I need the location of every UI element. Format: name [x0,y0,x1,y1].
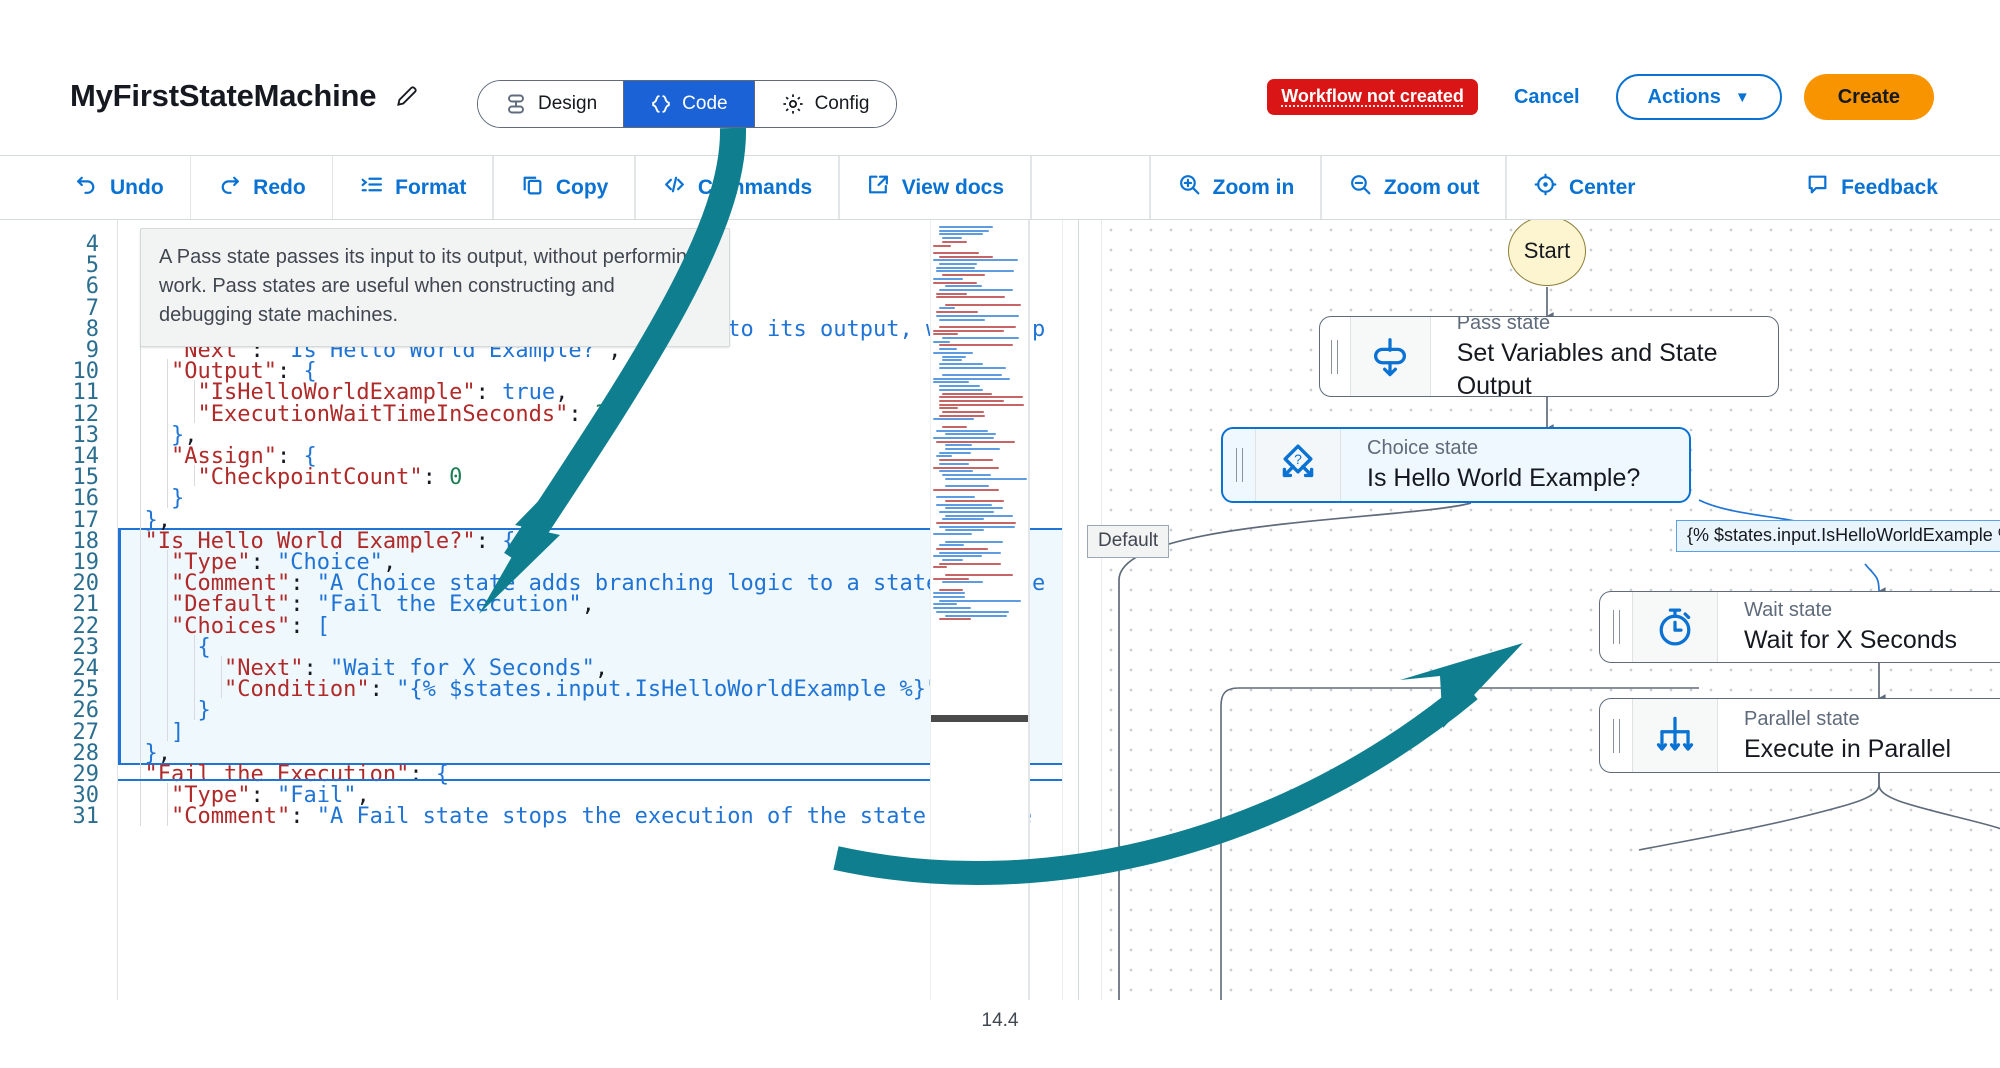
node-kind-label: Wait state [1744,597,1957,624]
minimap-line [942,426,967,428]
line-number: 4 [19,234,99,255]
cancel-button[interactable]: Cancel [1500,86,1594,109]
minimap-line [945,515,1013,517]
header-actions: Workflow not created Cancel Actions ▼ Cr… [1267,74,1934,120]
line-number: 21 [19,594,99,615]
minimap-line [936,315,1019,317]
minimap-line [942,241,967,243]
node-choice-state[interactable]: ? Choice state Is Hello World Example? [1221,427,1691,503]
toolbar-right-spacer [1661,156,1779,219]
minimap-line [945,541,1003,543]
minimap-line [933,341,950,343]
editor-scrollbar[interactable] [1062,220,1075,1000]
node-name-label: Wait for X Seconds [1744,624,1957,657]
minimap-line [939,385,980,387]
format-label: Format [395,176,466,200]
minimap-line [939,415,985,417]
undo-label: Undo [110,176,164,200]
minimap-line [933,352,973,354]
minimap-line [933,533,972,535]
page-title: MyFirstStateMachine [70,78,376,114]
minimap-line [945,285,982,287]
node-pass-state[interactable]: Pass state Set Variables and State Outpu… [1319,316,1779,397]
feedback-button[interactable]: Feedback [1779,156,2000,219]
minimap-line [939,470,973,472]
copy-label: Copy [556,176,609,200]
minimap-line [939,389,983,391]
title-group: MyFirstStateMachine [70,78,420,114]
external-link-icon [866,172,891,203]
line-number: 20 [19,573,99,594]
node-wait-state[interactable]: Wait state Wait for X Seconds [1599,591,2000,663]
minimap-line [939,348,957,350]
line-number: 14 [19,446,99,467]
tab-code-label: Code [682,93,727,115]
minimap-line [936,455,952,457]
line-number: 31 [19,806,99,827]
minimap-line [942,393,992,395]
minimap-line [936,296,1005,298]
code-minimap[interactable] [930,220,1028,1000]
minimap-line [939,452,971,454]
minimap-line [933,603,957,605]
minimap-line [942,474,991,476]
line-number: 12 [19,404,99,425]
parallel-state-icon [1632,699,1718,772]
feedback-icon [1805,172,1830,203]
status-badge: Workflow not created [1267,79,1478,115]
tab-config-label: Config [815,93,870,115]
minimap-line [933,578,969,580]
line-number: 30 [19,785,99,806]
editor-minimap-divider [1028,220,1030,1000]
node-name-label: Set Variables and State Output [1457,337,1778,397]
line-number: 19 [19,552,99,573]
minimap-line [939,400,1004,402]
view-docs-label: View docs [902,176,1004,200]
minimap-line [942,359,962,361]
minimap-line [936,496,975,498]
workflow-graph[interactable]: Start Pass state Set Variables and State… [1078,220,2000,1000]
svg-text:?: ? [1294,451,1302,467]
minimap-line [936,293,967,295]
node-drag-handle[interactable] [1223,429,1255,501]
minimap-line [933,592,965,594]
minimap-line [945,529,984,531]
line-number-gutter: 4567891011121314151617181920212223242526… [0,220,118,1000]
minimap-line [945,433,996,435]
node-drag-handle[interactable] [1320,317,1350,396]
minimap-line [939,407,958,409]
minimap-line [939,289,1013,291]
minimap-line [933,467,999,469]
minimap-line [936,504,992,506]
commands-button[interactable]: Commands [636,156,838,219]
create-button[interactable]: Create [1804,74,1934,120]
minimap-line [939,263,977,265]
design-icon [504,92,528,116]
line-number: 6 [19,276,99,297]
node-drag-handle[interactable] [1600,592,1632,662]
line-number: 7 [19,298,99,319]
minimap-line [936,522,1016,524]
node-labels: Wait state Wait for X Seconds [1718,592,1957,662]
redo-button[interactable]: Redo [191,156,332,219]
copy-icon [520,172,545,203]
undo-icon [74,172,99,203]
minimap-line [939,552,1001,554]
minimap-line [945,574,1013,576]
line-number: 17 [19,510,99,531]
choice-state-icon: ? [1255,429,1341,501]
edge-label-default[interactable]: Default [1087,525,1169,558]
braces-icon [650,93,672,115]
zoom-in-button[interactable]: Zoom in [1151,156,1321,219]
pass-state-icon [1350,317,1431,396]
graph-zoom-level: 14.4 [982,1010,1019,1032]
line-number: 26 [19,700,99,721]
minimap-line [939,307,955,309]
redo-label: Redo [253,176,306,200]
minimap-line [939,326,1016,328]
feedback-label: Feedback [1841,176,1938,200]
minimap-line [945,485,989,487]
app-header: MyFirstStateMachine Design [0,0,2000,155]
pass-state-tooltip: A Pass state passes its input to its out… [140,228,730,347]
minimap-line [936,441,1015,443]
line-number: 5 [19,255,99,276]
minimap-line [933,252,979,254]
editor-toolbar: Undo Redo Format Copy [0,155,2000,220]
node-labels: Choice state Is Hello World Example? [1341,429,1640,501]
zoom-out-icon [1348,172,1373,203]
tab-code[interactable]: Code [624,81,754,127]
minimap-line [939,589,963,591]
view-docs-button[interactable]: View docs [840,156,1030,219]
minimap-scroll-thumb[interactable] [931,715,1028,722]
zoom-out-button[interactable]: Zoom out [1322,156,1506,219]
minimap-line [939,563,1001,565]
line-number: 16 [19,488,99,509]
minimap-line [933,333,958,335]
minimap-line [939,233,983,235]
node-drag-handle[interactable] [1600,699,1632,772]
center-button[interactable]: Center [1507,156,1662,219]
minimap-line [933,489,999,491]
toolbar-mid-spacer [1032,156,1150,219]
minimap-line [936,430,988,432]
center-target-icon [1533,172,1558,203]
minimap-line [939,459,993,461]
zoom-in-icon [1177,172,1202,203]
minimap-line [939,319,985,321]
line-number: 25 [19,679,99,700]
line-number: 9 [19,340,99,361]
node-parallel-state[interactable]: Parallel state Execute in Parallel [1599,698,2000,773]
minimap-line [939,600,1021,602]
tab-config[interactable]: Config [755,81,896,127]
commands-label: Commands [698,176,812,200]
minimap-line [933,330,1004,332]
minimap-line [933,282,977,284]
line-number: 15 [19,467,99,488]
wait-state-icon [1632,592,1718,662]
line-number: 28 [19,743,99,764]
line-number: 23 [19,637,99,658]
minimap-line [933,437,994,439]
minimap-line [945,615,1007,617]
minimap-line [939,463,969,465]
minimap-line [936,611,1009,613]
copy-button[interactable]: Copy [494,156,635,219]
minimap-line [945,448,1000,450]
minimap-line [942,337,1019,339]
minimap-line [936,548,988,550]
redo-icon [217,172,242,203]
minimap-line [933,596,965,598]
minimap-line [933,245,951,247]
minimap-line [933,418,974,420]
minimap-line [939,344,1013,346]
minimap-line [939,618,971,620]
line-number: 24 [19,658,99,679]
code-brackets-icon [662,172,687,203]
minimap-line [942,356,966,358]
line-number: 18 [19,531,99,552]
actions-label: Actions [1648,86,1721,109]
format-button[interactable]: Format [333,156,492,219]
minimap-line [933,566,947,568]
node-kind-label: Parallel state [1744,706,1951,733]
minimap-line [942,518,984,520]
minimap-line [933,259,1018,261]
minimap-line [936,270,1014,272]
gear-icon [781,92,805,116]
line-number: 29 [19,764,99,785]
line-number: 22 [19,616,99,637]
minimap-line [945,478,1027,480]
pencil-icon[interactable] [394,83,420,109]
minimap-line [939,526,1015,528]
tab-design[interactable]: Design [478,81,624,127]
minimap-line [942,374,1002,376]
undo-button[interactable]: Undo [48,156,190,219]
actions-button[interactable]: Actions ▼ [1616,74,1782,120]
minimap-line [942,559,963,561]
tab-design-label: Design [538,93,597,115]
line-number: 10 [19,361,99,382]
edge-label-condition[interactable]: {% $states.input.IsHelloWorldExample %..… [1676,520,2000,552]
minimap-line [942,237,962,239]
minimap-line [939,230,989,232]
minimap-line [933,378,1010,380]
minimap-line [933,555,982,557]
minimap-line [939,404,1024,406]
minimap-line [942,411,984,413]
minimap-line [942,581,983,583]
minimap-line [945,444,972,446]
node-name-label: Execute in Parallel [1744,733,1951,766]
minimap-line [933,278,963,280]
minimap-line [945,304,1021,306]
node-kind-label: Choice state [1367,435,1640,462]
format-icon [359,172,384,203]
zoom-in-label: Zoom in [1213,176,1295,200]
minimap-line [945,507,1003,509]
minimap-line [939,367,1006,369]
minimap-line [942,274,985,276]
minimap-line [945,500,1004,502]
line-number: 13 [19,425,99,446]
node-name-label: Is Hello World Example? [1367,462,1640,495]
minimap-line [939,396,1023,398]
line-number: 8 [19,319,99,340]
minimap-line [939,226,993,228]
minimap-line [939,363,983,365]
minimap-line [933,381,969,383]
chevron-down-icon: ▼ [1735,90,1750,105]
view-mode-tabs[interactable]: Design Code Config [477,80,897,128]
minimap-line [939,544,964,546]
minimap-line [933,607,971,609]
center-label: Center [1569,176,1636,200]
minimap-line [936,267,975,269]
minimap-line [936,311,978,313]
toolbar-left-spacer [0,156,48,219]
node-labels: Pass state Set Variables and State Outpu… [1431,317,1778,396]
minimap-line [939,256,993,258]
node-kind-label: Pass state [1457,316,1778,337]
zoom-out-label: Zoom out [1384,176,1480,200]
line-number: 11 [19,382,99,403]
line-number: 27 [19,722,99,743]
node-labels: Parallel state Execute in Parallel [1718,699,1951,772]
minimap-line [939,511,994,513]
